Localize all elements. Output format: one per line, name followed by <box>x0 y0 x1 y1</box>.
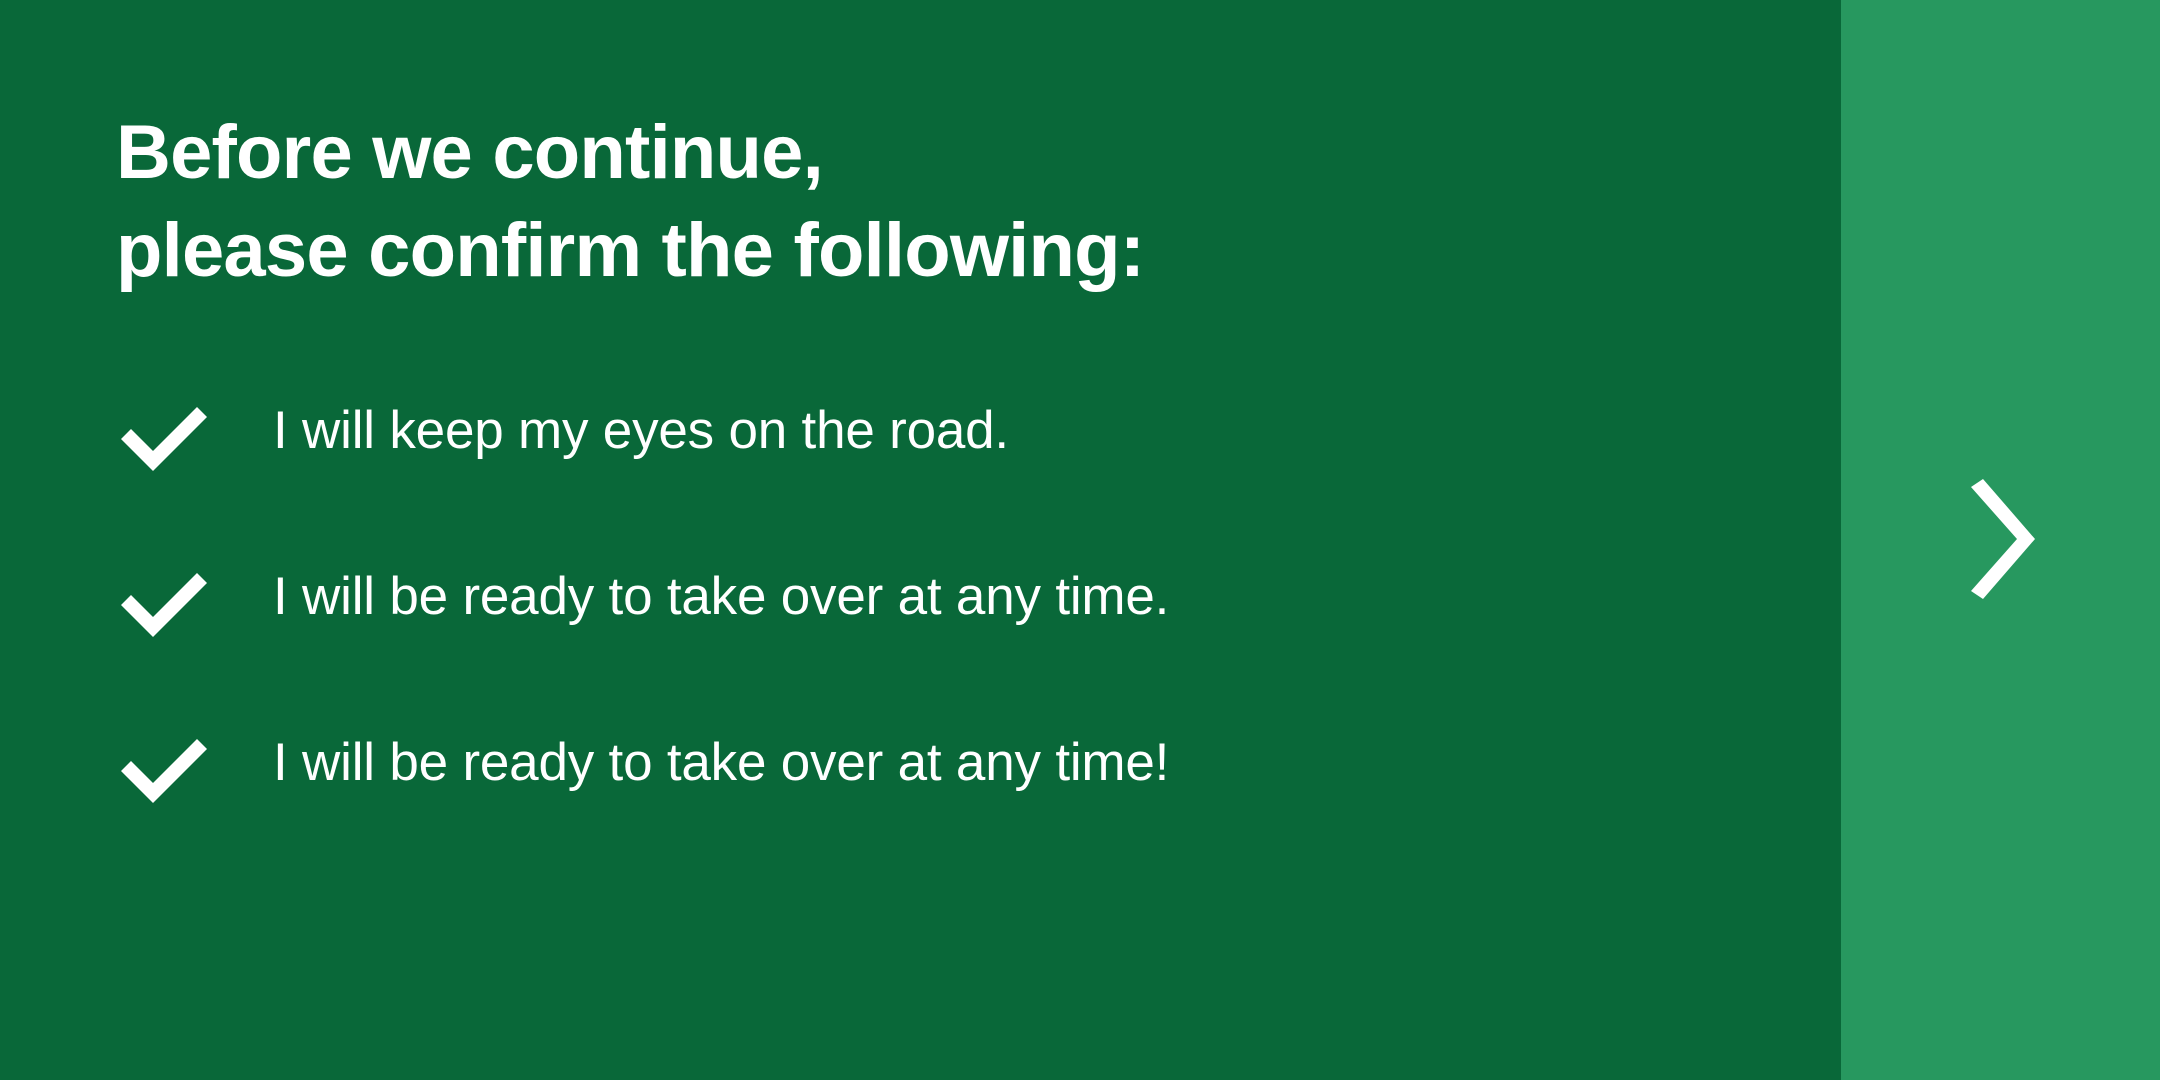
checklist-item-2[interactable]: I will be ready to take over at any time… <box>116 562 1716 728</box>
checklist-item-label: I will be ready to take over at any time… <box>273 562 1573 632</box>
chevron-right-icon[interactable] <box>1941 469 2061 609</box>
check-icon <box>116 564 212 644</box>
check-icon <box>116 398 212 478</box>
confirmation-checklist: I will keep my eyes on the road. I will … <box>116 396 1716 894</box>
check-icon <box>116 730 212 810</box>
checklist-item-1[interactable]: I will keep my eyes on the road. <box>116 396 1716 562</box>
content-panel: Before we continue, please confirm the f… <box>0 0 1841 1080</box>
checklist-item-label: I will keep my eyes on the road. <box>273 396 1573 466</box>
checklist-item-3[interactable]: I will be ready to take over at any time… <box>116 728 1716 894</box>
page-title: Before we continue, please confirm the f… <box>116 104 1616 300</box>
next-button[interactable] <box>1841 0 2160 1080</box>
confirmation-screen: Before we continue, please confirm the f… <box>0 0 2160 1080</box>
checklist-item-label: I will be ready to take over at any time… <box>273 728 1573 798</box>
